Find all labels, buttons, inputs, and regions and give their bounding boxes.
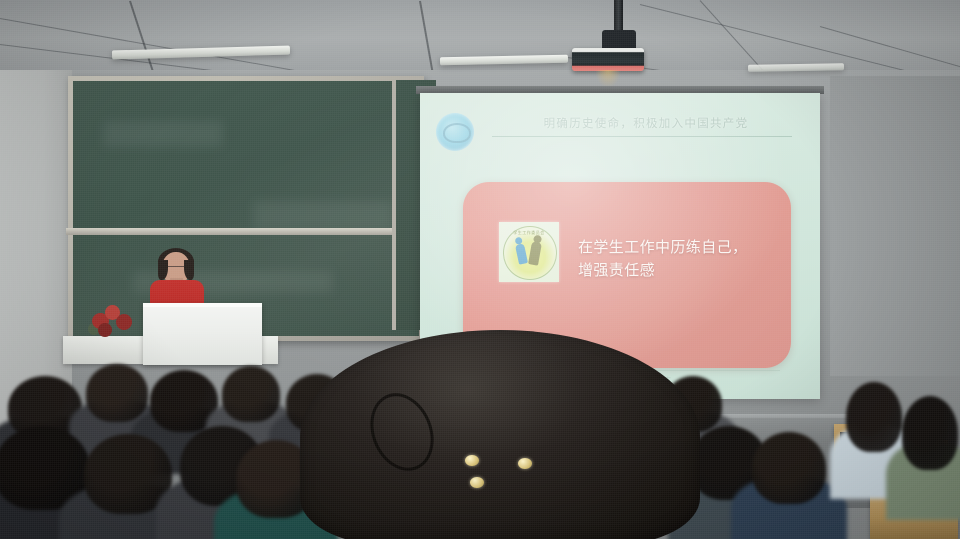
- blackboard-frame: [68, 76, 424, 341]
- emblem-arc-text: 学生工作委员会: [507, 230, 551, 242]
- pearl-hair-clip: [465, 455, 479, 466]
- presenter-hair-right: [184, 260, 194, 280]
- lecture-hall-photo: 明确历史使命，积极加入中国共产党 学生工作委员会 在学生工作中历练自己，增强责任…: [0, 0, 960, 539]
- student-head: [86, 364, 148, 422]
- student-association-emblem: 学生工作委员会: [499, 222, 559, 282]
- ceiling-projector: [572, 48, 644, 71]
- slide-title-rule: [492, 136, 792, 137]
- pearl-hair-clip: [470, 477, 484, 488]
- presenter-glasses: [166, 266, 186, 272]
- student-head: [222, 366, 280, 422]
- podium-top-edge: [143, 303, 262, 307]
- student-head: [752, 432, 826, 504]
- university-seal-logo: [436, 113, 474, 151]
- slide-title: 明确历史使命，积极加入中国共产党: [512, 113, 780, 133]
- blackboard: [73, 81, 419, 336]
- pearl-hair-clip: [518, 458, 532, 469]
- foreground-student-head: [300, 330, 700, 539]
- chalk-rail: [66, 228, 426, 235]
- flower-bloom: [116, 314, 132, 330]
- student-head: [846, 382, 902, 452]
- student-head: [902, 396, 958, 470]
- slide-body-text: 在学生工作中历练自己，增强责任感: [578, 236, 758, 283]
